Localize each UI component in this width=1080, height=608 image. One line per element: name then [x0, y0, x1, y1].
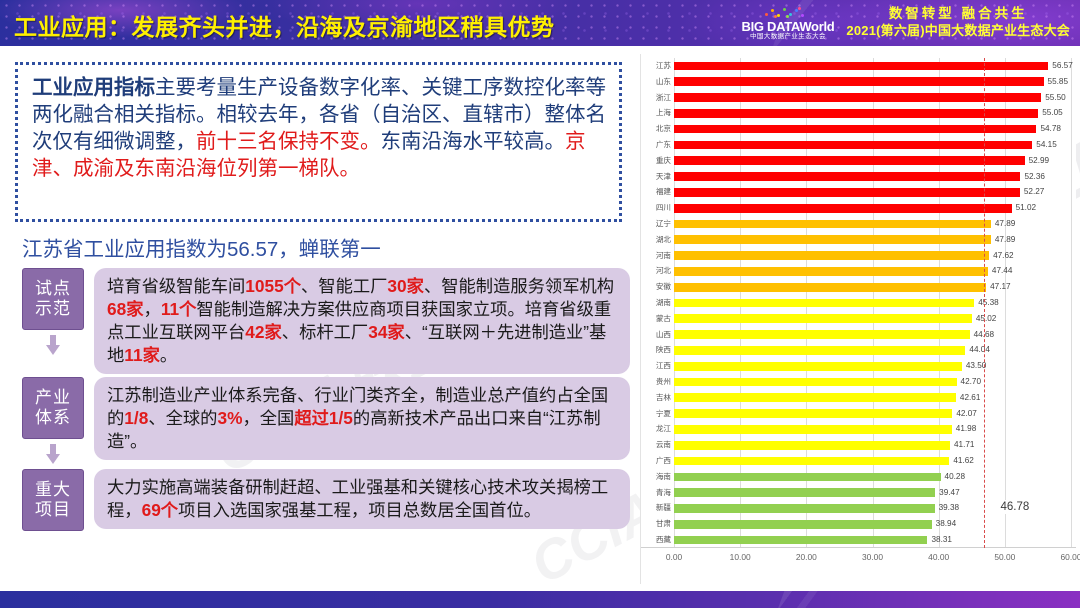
- summary-lead: 工业应用指标: [32, 76, 155, 99]
- bar-track: 55.50: [674, 93, 1076, 102]
- chart-bar[interactable]: [674, 362, 962, 371]
- chart-bar-row: 云南41.71: [641, 441, 1076, 450]
- arrow-down-icon: [46, 444, 60, 466]
- bar-value-label: 55.85: [1048, 78, 1069, 86]
- detail-text: 、智能工厂: [301, 276, 387, 296]
- category-badge[interactable]: 产业体系: [22, 377, 84, 439]
- chart-bar[interactable]: [674, 251, 989, 260]
- highlight-figure: 11个: [161, 299, 197, 319]
- bar-track: 38.94: [674, 520, 1076, 529]
- bar-track: 42.61: [674, 393, 1076, 402]
- chart-bar-row: 上海55.05: [641, 109, 1076, 118]
- chart-bar[interactable]: [674, 77, 1044, 86]
- bar-category-label: 安徽: [641, 283, 671, 291]
- highlight-figure: 超过1/5: [294, 408, 353, 428]
- chart-bar-row: 广东54.15: [641, 141, 1076, 150]
- bar-track: 55.85: [674, 77, 1076, 86]
- chart-bar[interactable]: [674, 172, 1020, 181]
- bar-value-label: 40.28: [945, 473, 966, 481]
- category-badge[interactable]: 试点示范: [22, 268, 84, 330]
- highlight-figure: 1/8: [124, 408, 148, 428]
- conference-title-block: 数智转型 融合共生 2021(第六届)中国大数据产业生态大会: [846, 6, 1070, 39]
- badge-column: 试点示范: [18, 268, 88, 357]
- left-content-panel: 工业应用指标主要考量生产设备数字化率、关键工序数控化率等两化融合相关指标。相较去…: [0, 46, 637, 591]
- bar-track: 41.62: [674, 457, 1076, 466]
- chart-bar[interactable]: [674, 62, 1048, 71]
- chart-bar-row: 吉林42.61: [641, 393, 1076, 402]
- bar-track: 52.99: [674, 156, 1076, 165]
- detail-text: 、标杆工厂: [282, 322, 368, 342]
- chart-bar-row: 辽宁47.89: [641, 220, 1076, 229]
- chart-bar-row: 龙江41.98: [641, 425, 1076, 434]
- detail-row: 重大项目大力实施高端装备研制赶超、工业强基和关键核心技术攻关揭榜工程，69个项目…: [18, 469, 630, 531]
- x-axis-tick: 50.00: [994, 552, 1015, 562]
- bar-category-label: 陕西: [641, 347, 671, 355]
- chart-bar-row: 湖南45.38: [641, 299, 1076, 308]
- chart-bar[interactable]: [674, 473, 941, 482]
- detail-rows: 试点示范培育省级智能车间1055个、智能工厂30家、智能制造服务领军机构68家，…: [18, 268, 630, 534]
- bar-track: 44.04: [674, 346, 1076, 355]
- x-axis-tick: 30.00: [862, 552, 883, 562]
- highlight-figure: 11家: [124, 345, 160, 365]
- bar-category-label: 云南: [641, 441, 671, 449]
- chart-bar[interactable]: [674, 393, 956, 402]
- province-index-bar-chart: 江苏56.57山东55.85浙江55.50上海55.05北京54.78广东54.…: [640, 54, 1076, 584]
- chart-bar-row: 蒙古45.02: [641, 314, 1076, 323]
- detail-bubble: 大力实施高端装备研制赶超、工业强基和关键核心技术攻关揭榜工程，69个项目入选国家…: [94, 469, 630, 529]
- bar-track: 41.98: [674, 425, 1076, 434]
- arrow-down-icon: [46, 335, 60, 357]
- bar-track: 47.17: [674, 283, 1076, 292]
- bar-category-label: 重庆: [641, 157, 671, 165]
- chart-bar[interactable]: [674, 141, 1032, 150]
- bar-value-label: 45.38: [978, 299, 999, 307]
- bar-track: 54.15: [674, 141, 1076, 150]
- summary-body-2: 东南沿海水平较高。: [381, 130, 566, 153]
- chart-bar-row: 山东55.85: [641, 77, 1076, 86]
- detail-text: 项目入选国家强基工程，项目总数居全国首位。: [178, 500, 541, 520]
- bar-category-label: 吉林: [641, 394, 671, 402]
- bar-value-label: 41.98: [956, 425, 977, 433]
- bar-value-label: 45.02: [976, 315, 997, 323]
- bar-track: 47.89: [674, 235, 1076, 244]
- badge-line: 产业: [35, 388, 71, 408]
- bar-track: 39.47: [674, 488, 1076, 497]
- bar-value-label: 42.07: [956, 410, 977, 418]
- detail-text: 培育省级智能车间: [107, 276, 245, 296]
- detail-text: 。: [160, 345, 177, 365]
- bar-value-label: 56.57: [1052, 62, 1073, 70]
- highlight-figure: 42家: [245, 322, 282, 342]
- chart-bar[interactable]: [674, 156, 1025, 165]
- bar-track: 42.70: [674, 378, 1076, 387]
- bar-value-label: 44.04: [969, 346, 990, 354]
- bar-track: 47.44: [674, 267, 1076, 276]
- chart-bar[interactable]: [674, 220, 991, 229]
- chart-plot-area: 江苏56.57山东55.85浙江55.50上海55.05北京54.78广东54.…: [641, 54, 1076, 584]
- page-title: 工业应用：发展齐头并进，沿海及京渝地区稍具优势: [14, 8, 555, 42]
- summary-callout-box: 工业应用指标主要考量生产设备数字化率、关键工序数控化率等两化融合相关指标。相较去…: [15, 62, 622, 222]
- bar-category-label: 上海: [641, 110, 671, 118]
- bar-track: 43.50: [674, 362, 1076, 371]
- chart-bar-row: 浙江55.50: [641, 93, 1076, 102]
- bar-value-label: 41.62: [953, 457, 974, 465]
- summary-highlight-1: 前十三名保持不变。: [196, 130, 381, 153]
- bar-category-label: 福建: [641, 189, 671, 197]
- bar-value-label: 39.47: [939, 489, 960, 497]
- bar-track: 41.71: [674, 441, 1076, 450]
- detail-bubble: 培育省级智能车间1055个、智能工厂30家、智能制造服务领军机构68家，11个智…: [94, 268, 630, 374]
- bar-category-label: 蒙古: [641, 315, 671, 323]
- badge-line: 项目: [35, 500, 71, 520]
- chart-bar-row: 北京54.78: [641, 125, 1076, 134]
- chart-bar-row: 天津52.36: [641, 172, 1076, 181]
- bar-category-label: 江西: [641, 362, 671, 370]
- bar-category-label: 宁夏: [641, 410, 671, 418]
- bar-category-label: 贵州: [641, 378, 671, 386]
- bar-track: 38.31: [674, 536, 1076, 545]
- detail-text: ，: [144, 299, 161, 319]
- bar-track: 55.05: [674, 109, 1076, 118]
- bar-value-label: 55.50: [1045, 93, 1066, 101]
- bar-track: 40.28: [674, 473, 1076, 482]
- bar-category-label: 天津: [641, 173, 671, 181]
- bar-value-label: 38.94: [936, 520, 957, 528]
- summary-text: 工业应用指标主要考量生产设备数字化率、关键工序数控化率等两化融合相关指标。相较去…: [32, 74, 607, 182]
- bar-category-label: 湖北: [641, 236, 671, 244]
- bar-track: 56.57: [674, 62, 1076, 71]
- highlight-figure: 3%: [217, 408, 242, 428]
- chart-bar-row: 重庆52.99: [641, 156, 1076, 165]
- bar-value-label: 47.89: [995, 220, 1016, 228]
- bar-value-label: 38.31: [931, 536, 952, 544]
- slide-header: 工业应用：发展齐头并进，沿海及京渝地区稍具优势 BIG DATAWorld 中国…: [0, 0, 1080, 46]
- badge-line: 体系: [35, 408, 71, 428]
- chart-bar[interactable]: [674, 520, 932, 529]
- brand-block: BIG DATAWorld 中国大数据产业生态大会 数智转型 融合共生 2021…: [742, 0, 1080, 46]
- detail-row: 产业体系江苏制造业产业体系完备、行业门类齐全，制造业总产值约占全国的1/8、全球…: [18, 377, 630, 466]
- slide-body: CCIA联盟2014 CCIA2014 CCIA联盟 CCIA2014 工业应用…: [0, 46, 1080, 591]
- chart-bar-row: 福建52.27: [641, 188, 1076, 197]
- bar-category-label: 浙江: [641, 94, 671, 102]
- logo-subtitle: 中国大数据产业生态大会: [750, 34, 826, 41]
- category-badge[interactable]: 重大项目: [22, 469, 84, 531]
- chart-bar[interactable]: [674, 204, 1012, 213]
- chart-bar[interactable]: [674, 330, 970, 339]
- bar-category-label: 广西: [641, 457, 671, 465]
- chart-bar-row: 湖北47.89: [641, 235, 1076, 244]
- chart-bar-row: 江苏56.57: [641, 62, 1076, 71]
- chart-bar-row: 西藏38.31: [641, 536, 1076, 545]
- bar-value-label: 54.15: [1036, 141, 1057, 149]
- bar-category-label: 四川: [641, 204, 671, 212]
- bar-category-label: 西藏: [641, 536, 671, 544]
- x-axis-tick: 60.00: [1061, 552, 1080, 562]
- bar-track: 45.38: [674, 299, 1076, 308]
- x-axis-tick: 0.00: [666, 552, 682, 562]
- chart-bar-row: 青海39.47: [641, 488, 1076, 497]
- chart-bar[interactable]: [674, 441, 950, 450]
- chart-bar-row: 河北47.44: [641, 267, 1076, 276]
- chart-bar[interactable]: [674, 346, 965, 355]
- detail-text: 、全球的: [148, 408, 217, 428]
- chart-bar-row: 四川51.02: [641, 204, 1076, 213]
- bar-category-label: 甘肃: [641, 520, 671, 528]
- highlight-figure: 68家: [107, 299, 144, 319]
- x-axis-tick: 20.00: [796, 552, 817, 562]
- bar-track: 44.68: [674, 330, 1076, 339]
- chart-bar-row: 山西44.68: [641, 330, 1076, 339]
- bar-category-label: 山西: [641, 331, 671, 339]
- bar-value-label: 51.02: [1016, 204, 1037, 212]
- bar-category-label: 河北: [641, 268, 671, 276]
- chart-bar[interactable]: [674, 188, 1020, 197]
- dot-cluster-icon: [759, 6, 817, 19]
- chart-bar[interactable]: [674, 93, 1041, 102]
- slide-footer: [0, 591, 1080, 608]
- chart-bar[interactable]: [674, 536, 927, 545]
- detail-bubble: 江苏制造业产业体系完备、行业门类齐全，制造业总产值约占全国的1/8、全球的3%，…: [94, 377, 630, 460]
- chart-bar-row: 江西43.50: [641, 362, 1076, 371]
- badge-column: 重大项目: [18, 469, 88, 531]
- chart-bar[interactable]: [674, 299, 974, 308]
- section-subtitle: 江苏省工业应用指数为56.57，蝉联第一: [22, 232, 622, 262]
- bar-category-label: 新疆: [641, 505, 671, 513]
- x-axis-tick: 40.00: [928, 552, 949, 562]
- highlight-figure: 69个: [142, 500, 179, 520]
- chart-bar[interactable]: [674, 267, 988, 276]
- chart-bar[interactable]: [674, 457, 949, 466]
- chart-bar-row: 贵州42.70: [641, 378, 1076, 387]
- highlight-figure: 30家: [387, 276, 424, 296]
- bar-track: 52.27: [674, 188, 1076, 197]
- average-reference-line: [984, 58, 985, 548]
- bar-track: 52.36: [674, 172, 1076, 181]
- chart-bar-row: 陕西44.04: [641, 346, 1076, 355]
- x-axis-tick-labels: 0.0010.0020.0030.0040.0050.0060.00: [674, 552, 1076, 566]
- chart-bar[interactable]: [674, 125, 1036, 134]
- chart-bar[interactable]: [674, 283, 986, 292]
- bar-track: 51.02: [674, 204, 1076, 213]
- bar-category-label: 龙江: [641, 426, 671, 434]
- chart-bar[interactable]: [674, 488, 935, 497]
- conference-slogan: 数智转型 融合共生: [889, 6, 1028, 23]
- bar-value-label: 52.36: [1024, 172, 1045, 180]
- chart-bar-row: 甘肃38.94: [641, 520, 1076, 529]
- chart-bar[interactable]: [674, 314, 972, 323]
- bar-value-label: 52.99: [1029, 157, 1050, 165]
- bar-value-label: 39.38: [939, 504, 960, 512]
- chart-bar[interactable]: [674, 409, 952, 418]
- bar-value-label: 54.78: [1040, 125, 1061, 133]
- highlight-figure: 1055个: [245, 276, 301, 296]
- bar-category-label: 辽宁: [641, 220, 671, 228]
- bar-category-label: 河南: [641, 252, 671, 260]
- footer-swoosh-decoration: [773, 591, 1080, 608]
- bar-category-label: 广东: [641, 141, 671, 149]
- chart-bar-row: 海南40.28: [641, 473, 1076, 482]
- x-axis-tick: 10.00: [730, 552, 751, 562]
- bar-value-label: 41.71: [954, 441, 975, 449]
- chart-bar-row: 河南47.62: [641, 251, 1076, 260]
- bar-category-label: 海南: [641, 473, 671, 481]
- chart-bar-row: 广西41.62: [641, 457, 1076, 466]
- bar-category-label: 北京: [641, 125, 671, 133]
- bar-value-label: 47.44: [992, 267, 1013, 275]
- bar-category-label: 青海: [641, 489, 671, 497]
- badge-line: 示范: [35, 299, 71, 319]
- bar-value-label: 47.89: [995, 236, 1016, 244]
- highlight-figure: 34家: [368, 322, 405, 342]
- chart-bar-row: 安徽47.17: [641, 283, 1076, 292]
- x-axis-line: [641, 547, 1076, 548]
- chart-bar-row: 宁夏42.07: [641, 409, 1076, 418]
- chart-bar[interactable]: [674, 235, 991, 244]
- average-reference-label: 46.78: [998, 500, 1033, 514]
- bar-value-label: 47.17: [990, 283, 1011, 291]
- bar-value-label: 55.05: [1042, 109, 1063, 117]
- bar-track: 47.62: [674, 251, 1076, 260]
- bar-value-label: 42.70: [961, 378, 982, 386]
- logo-world-text: World: [799, 19, 834, 34]
- bar-category-label: 山东: [641, 78, 671, 86]
- chart-bar[interactable]: [674, 378, 957, 387]
- detail-row: 试点示范培育省级智能车间1055个、智能工厂30家、智能制造服务领军机构68家，…: [18, 268, 630, 374]
- detail-text: 、智能制造服务领军机构: [424, 276, 614, 296]
- bar-category-label: 湖南: [641, 299, 671, 307]
- bar-value-label: 47.62: [993, 251, 1014, 259]
- logo-wordmark: BIG DATAWorld: [742, 20, 835, 33]
- bar-value-label: 42.61: [960, 394, 981, 402]
- bar-value-label: 52.27: [1024, 188, 1045, 196]
- detail-text: ，全国: [242, 408, 294, 428]
- bar-track: 42.07: [674, 409, 1076, 418]
- badge-line: 重大: [35, 480, 71, 500]
- bar-track: 47.89: [674, 220, 1076, 229]
- chart-bar[interactable]: [674, 425, 952, 434]
- bar-category-label: 江苏: [641, 62, 671, 70]
- badge-column: 产业体系: [18, 377, 88, 466]
- bigdata-world-logo: BIG DATAWorld 中国大数据产业生态大会: [742, 6, 835, 41]
- bar-track: 45.02: [674, 314, 1076, 323]
- chart-bar[interactable]: [674, 504, 935, 513]
- bar-track: 54.78: [674, 125, 1076, 134]
- slide-root: 工业应用：发展齐头并进，沿海及京渝地区稍具优势 BIG DATAWorld 中国…: [0, 0, 1080, 608]
- conference-name: 2021(第六届)中国大数据产业生态大会: [846, 23, 1070, 39]
- logo-bigdata-text: BIG DATA: [742, 19, 800, 34]
- badge-line: 试点: [35, 279, 71, 299]
